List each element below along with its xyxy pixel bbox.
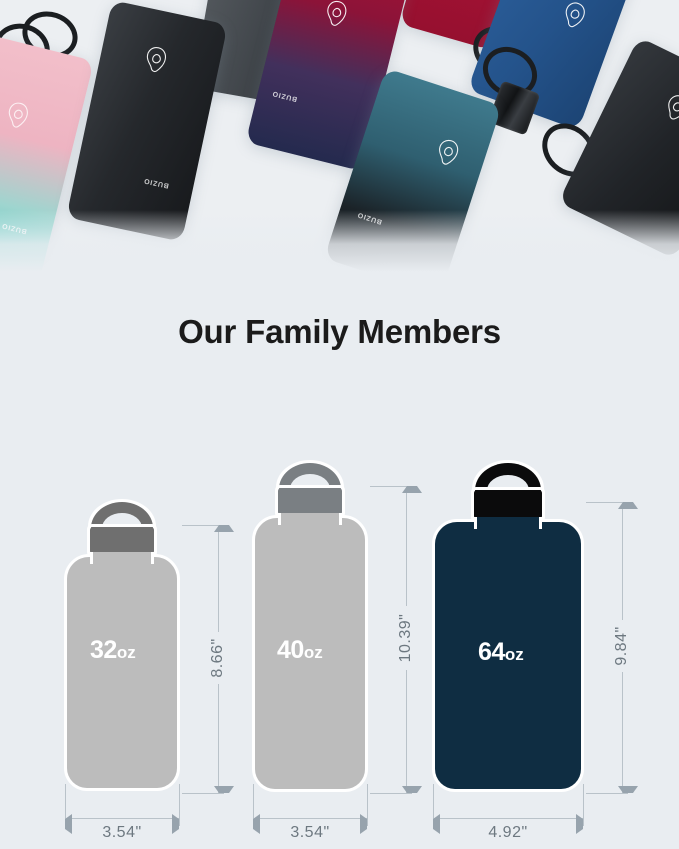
bottle-cap-64oz [474,490,542,520]
capacity-number: 40 [277,636,304,664]
bottle-figure-32oz: 32oz 8.66" 3.54" [60,440,260,849]
capacity-label-40oz: 40oz [277,636,323,665]
capacity-label-32oz: 32oz [90,636,136,665]
bottle-figure-64oz: 64oz 9.84" 4.92" [430,440,670,849]
bottle-neck-40oz [278,513,342,525]
dim-tick-bottom [182,793,224,794]
capacity-label-64oz: 64oz [478,638,524,667]
hero-photo-collage: BUZIO BUZIO BUZIO BUZIO [0,0,679,272]
width-label-40oz: 3.54" [253,824,367,842]
height-label-64oz: 9.84" [610,620,634,672]
capacity-number: 64 [478,638,505,666]
capacity-unit: oz [505,645,524,664]
dim-tick-right [179,784,180,826]
size-comparison-diagram: 32oz 8.66" 3.54" 40oz 10.39" 3.54" [0,440,679,849]
bottle-neck-64oz [474,517,542,529]
width-label-64oz: 4.92" [433,824,583,842]
width-dimension-line-64oz [433,818,583,819]
photo-bottle-black-left: BUZIO [66,0,228,242]
height-label-40oz: 10.39" [394,606,418,670]
dim-tick-right [367,784,368,826]
width-dimension-line-40oz [253,818,367,819]
capacity-unit: oz [117,643,136,662]
dim-tick-right [583,784,584,826]
bottle-figure-40oz: 40oz 10.39" 3.54" [248,440,448,849]
bottle-cap-32oz [90,527,154,555]
capacity-unit: oz [304,643,323,662]
page-title: Our Family Members [0,313,679,351]
width-dimension-line-32oz [65,818,179,819]
bottle-neck-32oz [90,552,154,564]
bottle-body-32oz [67,557,177,788]
bottle-cap-40oz [278,488,342,516]
width-label-32oz: 3.54" [65,824,179,842]
capacity-number: 32 [90,636,117,664]
dim-tick-bottom [370,793,412,794]
bottle-body [66,0,228,242]
dim-tick-bottom [586,793,628,794]
height-label-32oz: 8.66" [206,632,230,684]
